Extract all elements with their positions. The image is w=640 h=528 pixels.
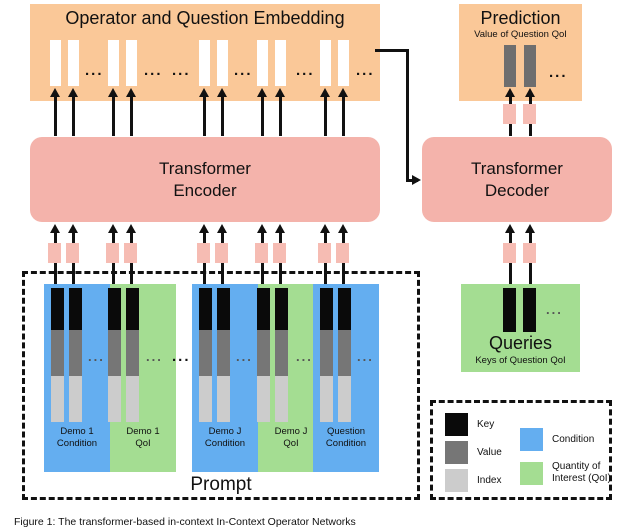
prompt-token-chip [124,243,137,263]
prompt-token-chip [48,243,61,263]
embedding-token [257,40,268,86]
bar-segment-key [275,288,288,330]
bar-segment-key [51,288,64,330]
encoder-to-embedding-arrow [217,88,227,97]
encoder-to-embedding-arrow [320,88,330,97]
prompt-stacked-bar [257,288,270,422]
prompt-stacked-bar [51,288,64,422]
bar-segment-value [126,330,139,376]
prompt-token-chip [106,243,119,263]
embedding-token [199,40,210,86]
prompt-column-caption: Demo J Condition [192,426,258,449]
embedding-panel-title: Operator and Question Embedding [30,8,380,28]
query-token [503,288,516,332]
bar-segment-key [199,288,212,330]
legend-label-index: Index [477,475,501,487]
prompt-stacked-bar [217,288,230,422]
bar-segment-index [108,376,121,422]
encoder-to-embedding-line [221,96,224,136]
embedding-token [68,40,79,86]
bar-segment-key [108,288,121,330]
bar-segment-index [51,376,64,422]
legend-label-key: Key [477,419,494,431]
prompt-middle-ellipsis: ... [172,352,191,362]
encoder-to-embedding-line [130,96,133,136]
prompt-label: Prompt [22,474,420,496]
prompt-column-ellipsis: ... [236,352,253,362]
query-token-chip [503,243,516,263]
legend-swatch-condition [520,428,543,451]
encoder-to-embedding-line [261,96,264,136]
encoder-to-embedding-line [203,96,206,136]
prediction-panel-subtitle: Value of Question QoI [459,29,582,40]
prompt-column-ellipsis: ... [296,352,313,362]
bar-segment-key [320,288,333,330]
bar-segment-value [338,330,351,376]
bar-segment-index [257,376,270,422]
prediction-panel-title: Prediction [459,8,582,28]
embedding-token [338,40,349,86]
bar-segment-index [338,376,351,422]
prompt-column-caption: Demo 1 Condition [44,426,110,449]
bar-segment-value [217,330,230,376]
bar-segment-value [199,330,212,376]
legend-label-value: Value [477,447,502,459]
prompt-column-ellipsis: ... [88,352,105,362]
encoder-to-embedding-line [54,96,57,136]
encoder-label-line2: Encoder [159,180,251,202]
prompt-column-caption-line2: Condition [44,438,110,450]
decoder-output-chip [503,104,516,124]
bar-segment-key [338,288,351,330]
transformer-encoder-block: Transformer Encoder [30,137,380,222]
legend-label-qoi-line2: Interest (QoI) [552,473,611,485]
embedding-to-decoder-arrow [412,175,421,185]
encoder-to-embedding-arrow [257,88,267,97]
embedding-ellipsis: ... [172,66,191,76]
encoder-to-embedding-arrow [108,88,118,97]
prompt-stacked-bar [126,288,139,422]
query-token-chip [523,243,536,263]
prompt-stacked-bar [320,288,333,422]
prompt-token-chip [215,243,228,263]
prompt-column-caption-line1: Demo J [192,426,258,438]
legend-label-qoi-line1: Quantity of [552,461,611,473]
prompt-stacked-bar [69,288,82,422]
embedding-to-decoder-vline [406,49,409,181]
bar-segment-value [275,330,288,376]
encoder-to-embedding-arrow [199,88,209,97]
decoder-output-chip [523,104,536,124]
prompt-column-ellipsis: ... [357,352,374,362]
embedding-token [108,40,119,86]
figure-caption: Figure 1: The transformer-based in-conte… [14,516,356,528]
embedding-token [320,40,331,86]
legend-swatch-index [445,469,468,492]
encoder-to-embedding-arrow [275,88,285,97]
prompt-column-caption-line2: QoI [110,438,176,450]
prompt-stacked-bar [275,288,288,422]
embedding-ellipsis: ... [356,66,375,76]
prompt-stacked-bar [338,288,351,422]
queries-panel-title: Queries [461,333,580,353]
embedding-token [217,40,228,86]
encoder-to-embedding-line [324,96,327,136]
legend-label-qoi: Quantity of Interest (QoI) [552,461,611,485]
bar-segment-value [108,330,121,376]
embedding-token [50,40,61,86]
bar-segment-index [320,376,333,422]
bar-segment-key [69,288,82,330]
encoder-to-embedding-arrow [126,88,136,97]
prompt-column-caption-line1: Demo 1 [110,426,176,438]
prompt-token-chip [66,243,79,263]
prediction-token [524,45,536,87]
legend-swatch-key [445,413,468,436]
prompt-column-caption-line2: Condition [313,438,379,450]
legend-swatch-value [445,441,468,464]
bar-segment-index [126,376,139,422]
encoder-to-embedding-line [112,96,115,136]
bar-segment-key [257,288,270,330]
prediction-token [504,45,516,87]
encoder-to-embedding-line [342,96,345,136]
embedding-token [126,40,137,86]
legend-swatch-qoi [520,462,543,485]
prediction-ellipsis: ... [549,68,568,78]
embedding-ellipsis: ... [144,66,163,76]
prompt-token-chip [255,243,268,263]
prompt-column-caption: Question Condition [313,426,379,449]
query-token [523,288,536,332]
bar-segment-value [51,330,64,376]
prompt-column-caption-line1: Question [313,426,379,438]
encoder-to-embedding-line [279,96,282,136]
queries-panel-subtitle: Keys of Question QoI [461,355,580,366]
prompt-stacked-bar [199,288,212,422]
embedding-ellipsis: ... [234,66,253,76]
encoder-to-embedding-arrow [50,88,60,97]
encoder-to-embedding-line [72,96,75,136]
transformer-decoder-block: Transformer Decoder [422,137,612,222]
prompt-column-ellipsis: ... [146,352,163,362]
bar-segment-value [69,330,82,376]
encoder-to-embedding-arrow [338,88,348,97]
bar-segment-key [217,288,230,330]
bar-segment-index [217,376,230,422]
bar-segment-value [320,330,333,376]
embedding-token [275,40,286,86]
prompt-token-chip [318,243,331,263]
queries-ellipsis: ... [546,305,563,315]
decoder-label-line2: Decoder [471,180,563,202]
figure-canvas: Operator and Question Embedding ... ... … [0,0,640,526]
embedding-ellipsis: ... [85,66,104,76]
encoder-to-embedding-arrow [68,88,78,97]
prompt-token-chip [336,243,349,263]
prompt-token-chip [197,243,210,263]
prompt-token-chip [273,243,286,263]
prompt-column-caption-line1: Demo 1 [44,426,110,438]
embedding-to-decoder-hline-top [375,49,409,52]
bar-segment-key [126,288,139,330]
embedding-ellipsis: ... [296,66,315,76]
decoder-label-line1: Transformer [471,158,563,180]
bar-segment-value [257,330,270,376]
prompt-column-caption: Demo 1 QoI [110,426,176,449]
bar-segment-index [275,376,288,422]
legend-label-condition: Condition [552,434,594,446]
prompt-column-caption-line2: Condition [192,438,258,450]
bar-segment-index [199,376,212,422]
prompt-stacked-bar [108,288,121,422]
encoder-label-line1: Transformer [159,158,251,180]
bar-segment-index [69,376,82,422]
